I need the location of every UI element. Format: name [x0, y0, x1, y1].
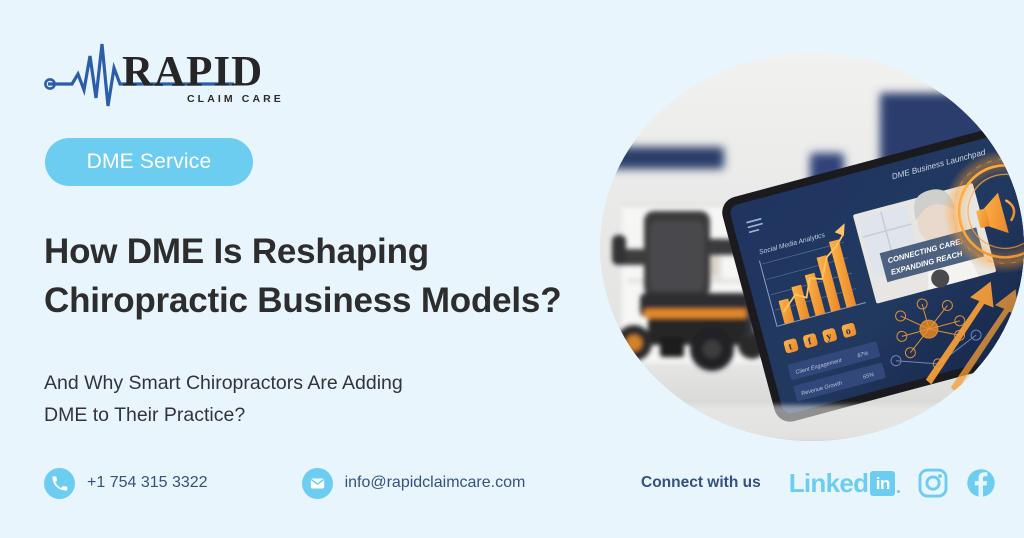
marketing-banner: RAPID CLAIM CARE DME Service How DME Is …	[0, 0, 1024, 538]
subhead-line-2: DME to Their Practice?	[44, 400, 564, 432]
logo-tagline: CLAIM CARE	[187, 93, 284, 105]
dme-service-badge[interactable]: DME Service	[45, 138, 253, 186]
logo-wordmark: RAPID	[122, 51, 263, 94]
phone-number: +1 754 315 3322	[87, 474, 208, 492]
subhead-line-1: And Why Smart Chiropractors Are Adding	[44, 368, 564, 400]
dme-clinic-tablet-photo: DME Business Launchpad Social Media Anal…	[600, 53, 1024, 441]
linkedin-dot	[897, 490, 900, 493]
phone-icon	[44, 468, 75, 499]
facebook-icon[interactable]	[966, 468, 996, 498]
badge-label: DME Service	[87, 150, 212, 174]
linkedin-icon[interactable]: Linked in	[789, 470, 901, 496]
linkedin-in-label: in	[876, 475, 890, 492]
social-label: Connect with us	[641, 474, 761, 492]
headline-line-2: Chiropractic Business Models?	[44, 277, 604, 326]
email-contact[interactable]: info@rapidclaimcare.com	[302, 468, 526, 499]
phone-contact[interactable]: +1 754 315 3322	[44, 468, 208, 499]
social-links: Connect with us Linked in	[641, 463, 996, 503]
contact-bar: +1 754 315 3322 info@rapidclaimcare.com	[44, 463, 525, 503]
headline-line-1: How DME Is Reshaping	[44, 228, 604, 277]
instagram-icon[interactable]	[918, 468, 948, 498]
page-title: How DME Is Reshaping Chiropractic Busine…	[44, 228, 604, 325]
envelope-icon	[302, 468, 333, 499]
brand-logo[interactable]: RAPID CLAIM CARE	[44, 38, 294, 110]
linkedin-in-box: in	[870, 471, 895, 496]
page-subtitle: And Why Smart Chiropractors Are Adding D…	[44, 368, 564, 432]
email-address: info@rapidclaimcare.com	[345, 474, 526, 492]
linkedin-wordmark: Linked	[789, 470, 869, 496]
